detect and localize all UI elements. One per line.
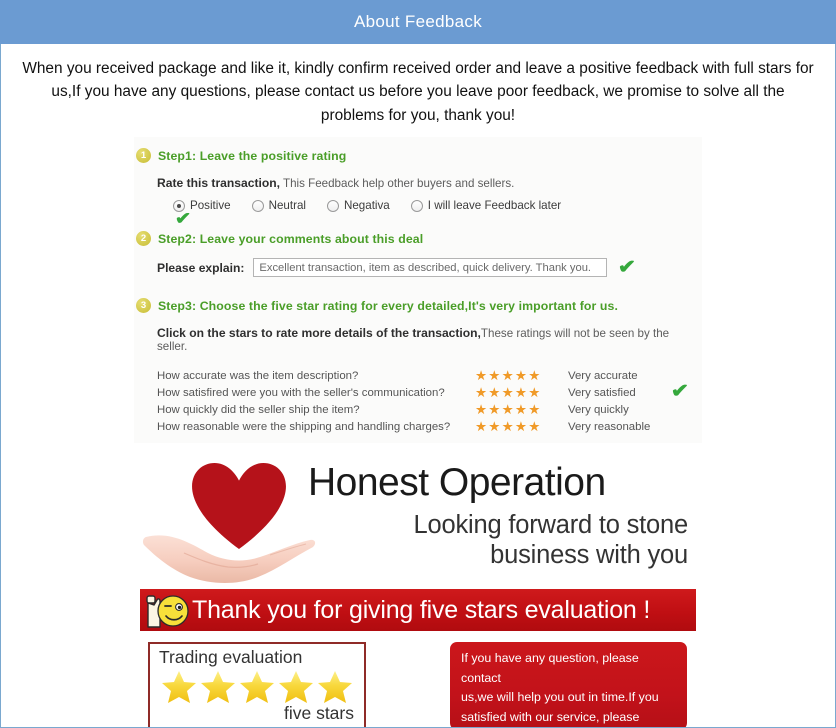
star-icon bbox=[238, 669, 276, 705]
step-2-body: Please explain: ✔ bbox=[134, 258, 702, 277]
radio-option-negativa[interactable]: Negativa bbox=[327, 199, 390, 212]
explain-input[interactable] bbox=[253, 258, 607, 277]
thank-you-banner: Thank you for giving five stars evaluati… bbox=[140, 589, 696, 631]
click-stars-label: Click on the stars to rate more details … bbox=[157, 326, 481, 340]
thank-you-text: Thank you for giving five stars evaluati… bbox=[192, 598, 650, 623]
explain-row: Please explain: ✔ bbox=[157, 258, 702, 277]
step-3-header: 3 Step3: Choose the five star rating for… bbox=[134, 293, 702, 313]
radio-icon[interactable] bbox=[411, 200, 423, 212]
promo-block: Honest Operation Looking forward to ston… bbox=[140, 455, 696, 728]
rating-label: Very reasonable bbox=[568, 419, 650, 436]
green-check-icon: ✔ bbox=[618, 258, 636, 277]
steps-section: 1 Step1: Leave the positive rating Rate … bbox=[134, 137, 702, 443]
radio-label: I will leave Feedback later bbox=[428, 199, 561, 212]
page-title: About Feedback bbox=[354, 12, 482, 32]
rating-radio-group: Positive Neutral Negativa I will le bbox=[157, 199, 702, 212]
rate-transaction-hint: This Feedback help other buyers and sell… bbox=[280, 177, 514, 190]
step-2-title: Step2: Leave your comments about this de… bbox=[158, 232, 423, 246]
trading-evaluation-box: Trading evaluation five stars bbox=[148, 642, 366, 728]
green-check-icon: ✔ bbox=[671, 382, 689, 401]
radio-label: Negativa bbox=[344, 199, 390, 212]
rating-question: How reasonable were the shipping and han… bbox=[157, 419, 475, 436]
ratings-label-column: Very accurate Very satisfied Very quickl… bbox=[568, 368, 650, 435]
rating-label: Very accurate bbox=[568, 368, 650, 385]
step-2: 2 Step2: Leave your comments about this … bbox=[134, 226, 702, 277]
explain-label: Please explain: bbox=[157, 261, 244, 275]
star-icon bbox=[199, 669, 237, 705]
intro-paragraph: When you received package and like it, k… bbox=[1, 44, 835, 135]
radio-icon[interactable] bbox=[252, 200, 264, 212]
star-icon bbox=[160, 669, 198, 705]
rating-label: Very satisfied bbox=[568, 385, 650, 402]
rating-question: How quickly did the seller ship the item… bbox=[157, 402, 475, 419]
radio-label: Neutral bbox=[269, 199, 306, 212]
contact-note-box: If you have any question, please contact… bbox=[450, 642, 687, 728]
hand-holding-heart-image bbox=[142, 455, 317, 587]
rating-stars[interactable]: ★★★★★ bbox=[475, 419, 568, 436]
rating-stars[interactable]: ★★★★★ bbox=[475, 385, 568, 402]
trading-evaluation-caption: five stars bbox=[150, 703, 364, 724]
rating-stars[interactable]: ★★★★★ bbox=[475, 402, 568, 419]
honest-subline-2: business with you bbox=[308, 540, 696, 570]
honest-operation-text: Honest Operation Looking forward to ston… bbox=[308, 463, 696, 570]
radio-label: Positive bbox=[190, 199, 231, 212]
honest-operation-banner: Honest Operation Looking forward to ston… bbox=[140, 455, 696, 587]
radio-option-feedback-later[interactable]: I will leave Feedback later bbox=[411, 199, 561, 212]
ratings-stars-column: ★★★★★ ★★★★★ ★★★★★ ★★★★★ bbox=[475, 368, 568, 435]
radio-option-neutral[interactable]: Neutral bbox=[252, 199, 306, 212]
star-icon bbox=[316, 669, 354, 705]
step-2-header: 2 Step2: Leave your comments about this … bbox=[134, 226, 702, 246]
step-3: 3 Step3: Choose the five star rating for… bbox=[134, 293, 702, 435]
step-3-title: Step3: Choose the five star rating for e… bbox=[158, 299, 618, 313]
thumbs-up-smiley-icon bbox=[140, 589, 192, 631]
contact-note-line: satisfied with our service, please bbox=[461, 708, 677, 728]
detailed-ratings-table: How accurate was the item description? H… bbox=[157, 368, 702, 435]
green-check-icon: ✔ bbox=[175, 210, 191, 227]
click-stars-lead: Click on the stars to rate more details … bbox=[157, 326, 702, 353]
step-1: 1 Step1: Leave the positive rating Rate … bbox=[134, 143, 702, 212]
green-check-icon-wrap: ✔ bbox=[672, 382, 688, 402]
about-feedback-page: About Feedback When you received package… bbox=[0, 0, 836, 728]
hand-icon bbox=[142, 527, 317, 585]
trading-evaluation-stars bbox=[150, 669, 364, 705]
rating-stars[interactable]: ★★★★★ bbox=[475, 368, 568, 385]
rate-transaction-label: Rate this transaction, bbox=[157, 176, 280, 190]
honest-headline: Honest Operation bbox=[308, 463, 696, 504]
step-number-badge: 1 bbox=[136, 148, 151, 163]
step-number-badge: 3 bbox=[136, 298, 151, 313]
step-number-badge: 2 bbox=[136, 231, 151, 246]
honest-subline-1: Looking forward to stone bbox=[308, 510, 696, 540]
titlebar: About Feedback bbox=[0, 0, 836, 44]
contact-note-line: us,we will help you out in time.If you bbox=[461, 688, 677, 708]
ratings-question-column: How accurate was the item description? H… bbox=[157, 368, 475, 435]
radio-icon[interactable] bbox=[327, 200, 339, 212]
step-1-header: 1 Step1: Leave the positive rating bbox=[134, 143, 702, 163]
trading-evaluation-title: Trading evaluation bbox=[150, 644, 364, 667]
step-1-title: Step1: Leave the positive rating bbox=[158, 149, 346, 163]
rating-question: How satisfired were you with the seller'… bbox=[157, 385, 475, 402]
step-1-body: Rate this transaction, This Feedback hel… bbox=[134, 176, 702, 212]
content-panel: When you received package and like it, k… bbox=[0, 44, 836, 728]
rating-question: How accurate was the item description? bbox=[157, 368, 475, 385]
rate-transaction-lead: Rate this transaction, This Feedback hel… bbox=[157, 176, 702, 190]
contact-note-line: If you have any question, please contact bbox=[461, 649, 677, 688]
star-icon bbox=[277, 669, 315, 705]
rating-label: Very quickly bbox=[568, 402, 650, 419]
bottom-boxes: Trading evaluation five stars If you hav… bbox=[140, 642, 696, 728]
step-3-body: Click on the stars to rate more details … bbox=[134, 326, 702, 435]
